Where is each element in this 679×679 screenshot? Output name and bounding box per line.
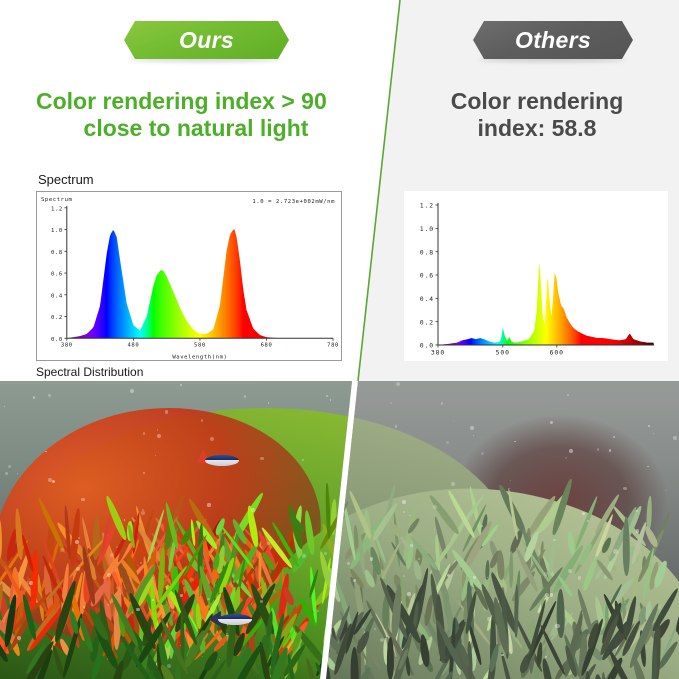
bubble xyxy=(33,396,36,399)
plant-leaf xyxy=(0,519,1,560)
bubble xyxy=(267,542,270,545)
others-headline: Color rendering index: 58.8 xyxy=(421,88,653,142)
top-comparison-area: Ours Others Color rendering index > 90 c… xyxy=(0,0,679,381)
bubble xyxy=(60,548,64,552)
bubble xyxy=(157,434,161,438)
bubble xyxy=(140,562,142,564)
bubble xyxy=(52,480,55,483)
svg-text:1.0: 1.0 xyxy=(420,225,434,233)
bubble xyxy=(8,465,11,468)
bubble xyxy=(587,520,589,522)
bubble xyxy=(349,571,350,572)
bubble xyxy=(636,529,640,533)
ours-spectrum-chart: 0.00.20.40.60.81.01.2380480580680780Wave… xyxy=(36,191,342,361)
bubble xyxy=(330,399,331,400)
bubble xyxy=(302,554,306,558)
bubble xyxy=(180,594,183,597)
spectrum-caption: Spectral Distribution xyxy=(36,365,143,379)
fish-body xyxy=(218,614,252,625)
svg-text:500: 500 xyxy=(496,348,510,356)
svg-text:380: 380 xyxy=(61,343,73,349)
plant-leaf xyxy=(556,589,564,638)
bubble xyxy=(152,599,154,601)
svg-text:1.2: 1.2 xyxy=(51,206,63,212)
others-headline-line1: Color rendering xyxy=(451,88,624,114)
bubble xyxy=(396,382,400,386)
svg-text:380: 380 xyxy=(431,348,445,356)
svg-text:480: 480 xyxy=(127,343,139,349)
bubble xyxy=(487,617,491,621)
svg-text:0.6: 0.6 xyxy=(51,272,63,278)
bubble xyxy=(501,654,503,656)
bubble xyxy=(410,544,413,547)
bubble xyxy=(83,606,85,608)
svg-text:1.0: 1.0 xyxy=(51,228,63,234)
bubble xyxy=(451,482,455,486)
bubble xyxy=(403,511,405,513)
svg-text:0.4: 0.4 xyxy=(51,293,63,299)
bubble xyxy=(510,480,511,481)
svg-text:680: 680 xyxy=(261,343,273,349)
others-badge-label: Others xyxy=(515,27,591,54)
bubble xyxy=(5,472,8,475)
bubble xyxy=(481,525,483,527)
plant-leaf xyxy=(175,665,181,679)
bubble xyxy=(48,478,52,482)
bubble xyxy=(545,656,547,658)
comparison-infographic: Ours Others Color rendering index > 90 c… xyxy=(0,0,679,679)
svg-text:0.8: 0.8 xyxy=(51,250,63,256)
bubble xyxy=(110,553,114,557)
ours-headline-line2: close to natural light xyxy=(36,115,356,142)
svg-text:780: 780 xyxy=(327,343,339,349)
bubble xyxy=(167,664,171,668)
svg-text:1.2: 1.2 xyxy=(420,202,434,210)
bubble xyxy=(555,624,559,628)
spectrum-title: Spectrum xyxy=(38,172,94,187)
bubble xyxy=(81,498,84,501)
bubble xyxy=(613,549,617,553)
bubble xyxy=(207,503,210,506)
svg-text:600: 600 xyxy=(550,348,564,356)
bubble xyxy=(446,441,449,444)
bubble xyxy=(260,600,263,603)
bubble xyxy=(350,416,354,420)
bubble xyxy=(370,557,374,561)
bubble xyxy=(353,579,356,582)
bubble xyxy=(347,562,349,564)
bubble xyxy=(648,425,650,427)
bubble xyxy=(45,451,46,452)
bubble xyxy=(180,645,181,646)
svg-text:0.6: 0.6 xyxy=(420,272,434,280)
bubble xyxy=(350,416,354,420)
bubble xyxy=(434,529,435,530)
bubble xyxy=(141,511,145,515)
svg-text:0.4: 0.4 xyxy=(420,295,434,303)
ours-badge-label: Ours xyxy=(179,27,234,54)
others-headline-line2: index: 58.8 xyxy=(478,115,597,141)
bubble xyxy=(613,436,615,438)
bubble xyxy=(251,508,255,512)
plant-leaf xyxy=(509,551,513,588)
svg-text:580: 580 xyxy=(194,343,206,349)
bubble xyxy=(17,636,21,640)
bubble xyxy=(180,384,182,386)
photo-comparison-area xyxy=(0,381,679,679)
bubble xyxy=(508,488,510,490)
ours-headline-line1: Color rendering index > 90 xyxy=(36,88,327,114)
bubble xyxy=(418,558,419,559)
bubble xyxy=(407,592,411,596)
bubble xyxy=(165,410,169,414)
svg-text:0.2: 0.2 xyxy=(51,315,63,321)
bubble xyxy=(202,656,203,657)
bubble xyxy=(647,466,648,467)
bubble xyxy=(260,457,264,461)
bubble xyxy=(565,457,567,459)
bubble xyxy=(244,395,246,397)
bubble xyxy=(29,581,33,585)
svg-text:1.0 = 2.723e+002mW/nm: 1.0 = 2.723e+002mW/nm xyxy=(252,199,335,205)
svg-text:0.2: 0.2 xyxy=(420,318,434,326)
svg-text:Spectrum: Spectrum xyxy=(41,197,73,203)
ours-badge: Ours xyxy=(124,21,289,59)
bubble xyxy=(569,449,573,453)
fish-body xyxy=(205,455,239,466)
others-spectrum-chart: 0.00.20.40.60.81.01.2380500600 xyxy=(404,191,668,361)
bubble xyxy=(374,628,376,630)
ours-headline: Color rendering index > 90 close to natu… xyxy=(36,88,356,142)
bubble xyxy=(326,395,328,397)
bubble xyxy=(395,425,398,428)
svg-text:0.8: 0.8 xyxy=(420,248,434,256)
bubble xyxy=(402,500,406,504)
bubble xyxy=(550,593,554,597)
bubble xyxy=(582,512,585,515)
others-badge: Others xyxy=(473,21,633,59)
svg-text:Wavelength(nm): Wavelength(nm) xyxy=(172,355,227,360)
